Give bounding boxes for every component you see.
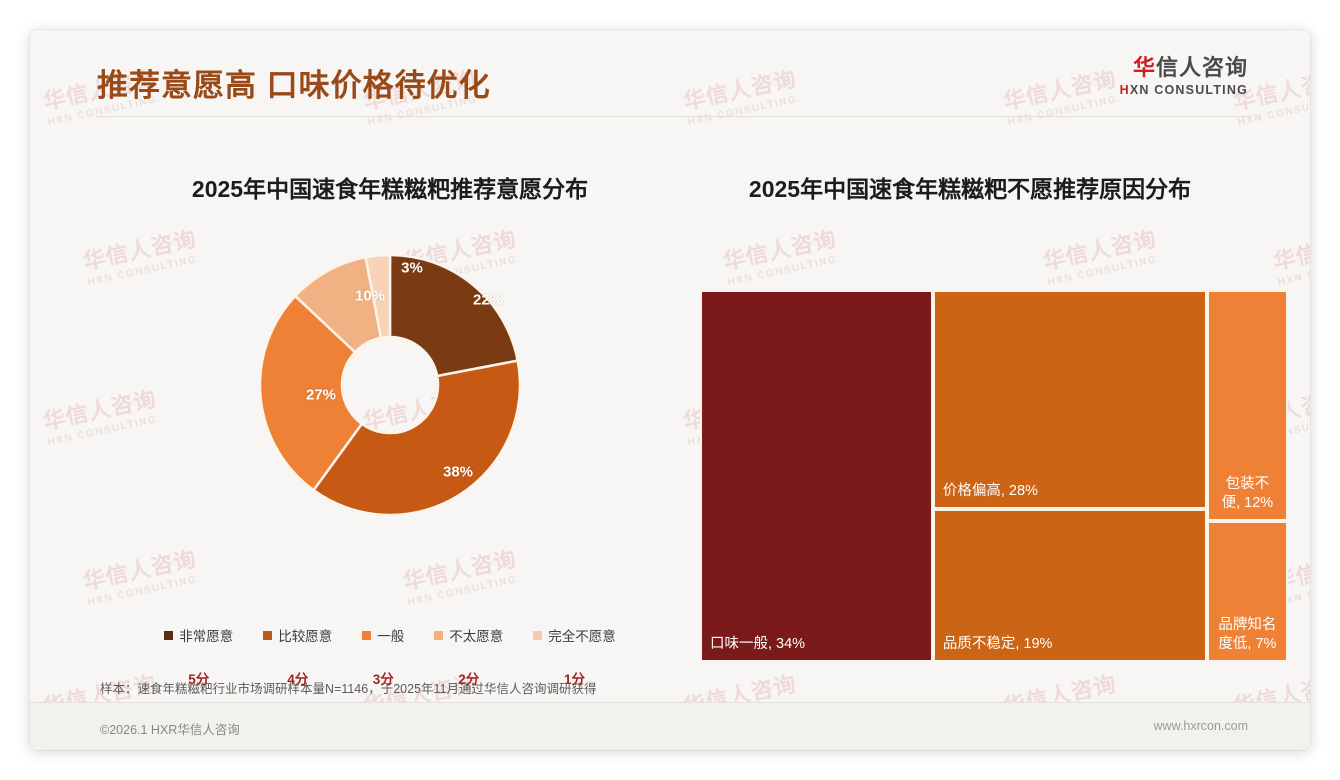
page-title: 推荐意愿高 口味价格待优化 [97, 60, 491, 105]
watermark-chinese: 华信人咨询 [1270, 221, 1310, 276]
donut-chart: 22%38%27%10%3% [90, 225, 690, 605]
legend-swatch-icon [362, 631, 371, 640]
legend-label: 不太愿意 [449, 625, 503, 645]
left-chart-panel: 2025年中国速食年糕糍粑推荐意愿分布 22%38%27%10%3% 非常愿意比… [90, 170, 690, 690]
treemap-cell[interactable]: 品牌知名度低, 7% [1207, 521, 1288, 662]
treemap-chart: 口味一般, 34%价格偏高, 28%品质不稳定, 19%包装不便, 12%品牌知… [700, 290, 1288, 662]
right-chart-panel: 2025年中国速食年糕糍粑不愿推荐原因分布 口味一般, 34%价格偏高, 28%… [690, 170, 1250, 690]
donut-slice-label: 10% [355, 288, 385, 305]
legend-item[interactable]: 非常愿意 [164, 625, 233, 645]
legend-label: 完全不愿意 [548, 625, 616, 645]
treemap-cell-label: 包装不便, 12% [1209, 469, 1286, 519]
legend-item[interactable]: 比较愿意 [263, 625, 332, 645]
treemap-cell-label: 品牌知名度低, 7% [1209, 610, 1286, 660]
treemap-cell-label: 品质不稳定, 19% [935, 629, 1061, 660]
legend-swatch-icon [434, 631, 443, 640]
treemap-cell[interactable]: 口味一般, 34% [700, 290, 933, 662]
treemap-cell[interactable]: 包装不便, 12% [1207, 290, 1288, 521]
company-logo: 华信人咨询 HXN CONSULTING [1120, 56, 1248, 97]
copyright-text: ©2026.1 HXR华信人咨询 [100, 719, 240, 738]
logo-h-char: H [1120, 83, 1130, 97]
donut-chart-svg [245, 225, 535, 605]
treemap-cell[interactable]: 品质不稳定, 19% [933, 509, 1207, 662]
website-text: www.hxrcon.com [1154, 719, 1248, 733]
sample-note: 样本：速食年糕糍粑行业市场调研样本量N=1146，于2025年11月通过华信人咨… [100, 678, 597, 697]
legend-swatch-icon [164, 631, 173, 640]
donut-slice-label: 3% [401, 260, 423, 277]
treemap-cell[interactable]: 价格偏高, 28% [933, 290, 1207, 509]
header-divider [96, 116, 1250, 117]
treemap-cell-label: 口味一般, 34% [702, 629, 813, 660]
donut-slice-label: 27% [306, 387, 336, 404]
slide-header: 推荐意愿高 口味价格待优化 华信人咨询 HXN CONSULTING [30, 30, 1310, 128]
logo-hua-char: 华 [1133, 55, 1156, 80]
logo-chinese-text: 华信人咨询 [1120, 56, 1248, 80]
donut-legend: 非常愿意比较愿意一般不太愿意完全不愿意 [90, 625, 690, 645]
legend-label: 非常愿意 [179, 625, 233, 645]
legend-item[interactable]: 不太愿意 [434, 625, 503, 645]
logo-en-rest: XN CONSULTING [1130, 83, 1248, 97]
slide-footer: ©2026.1 HXR华信人咨询 www.hxrcon.com [30, 703, 1310, 750]
donut-slice-label: 38% [443, 464, 473, 481]
legend-swatch-icon [263, 631, 272, 640]
logo-cn-rest: 信人咨询 [1156, 55, 1248, 80]
donut-slice-label: 22% [473, 292, 503, 309]
watermark-tile: 华信人咨询HXN CONSULTING [1270, 221, 1310, 288]
right-chart-title: 2025年中国速食年糕糍粑不愿推荐原因分布 [690, 170, 1250, 204]
slide-card: 华信人咨询HXN CONSULTING华信人咨询HXN CONSULTING华信… [30, 30, 1310, 750]
left-chart-title: 2025年中国速食年糕糍粑推荐意愿分布 [90, 170, 690, 204]
treemap-cell-label: 价格偏高, 28% [935, 476, 1046, 507]
logo-english-text: HXN CONSULTING [1120, 83, 1248, 97]
legend-label: 比较愿意 [278, 625, 332, 645]
legend-label: 一般 [377, 625, 404, 645]
legend-item[interactable]: 一般 [362, 625, 404, 645]
watermark-english: HXN CONSULTING [1277, 253, 1310, 288]
legend-item[interactable]: 完全不愿意 [533, 625, 616, 645]
legend-swatch-icon [533, 631, 542, 640]
